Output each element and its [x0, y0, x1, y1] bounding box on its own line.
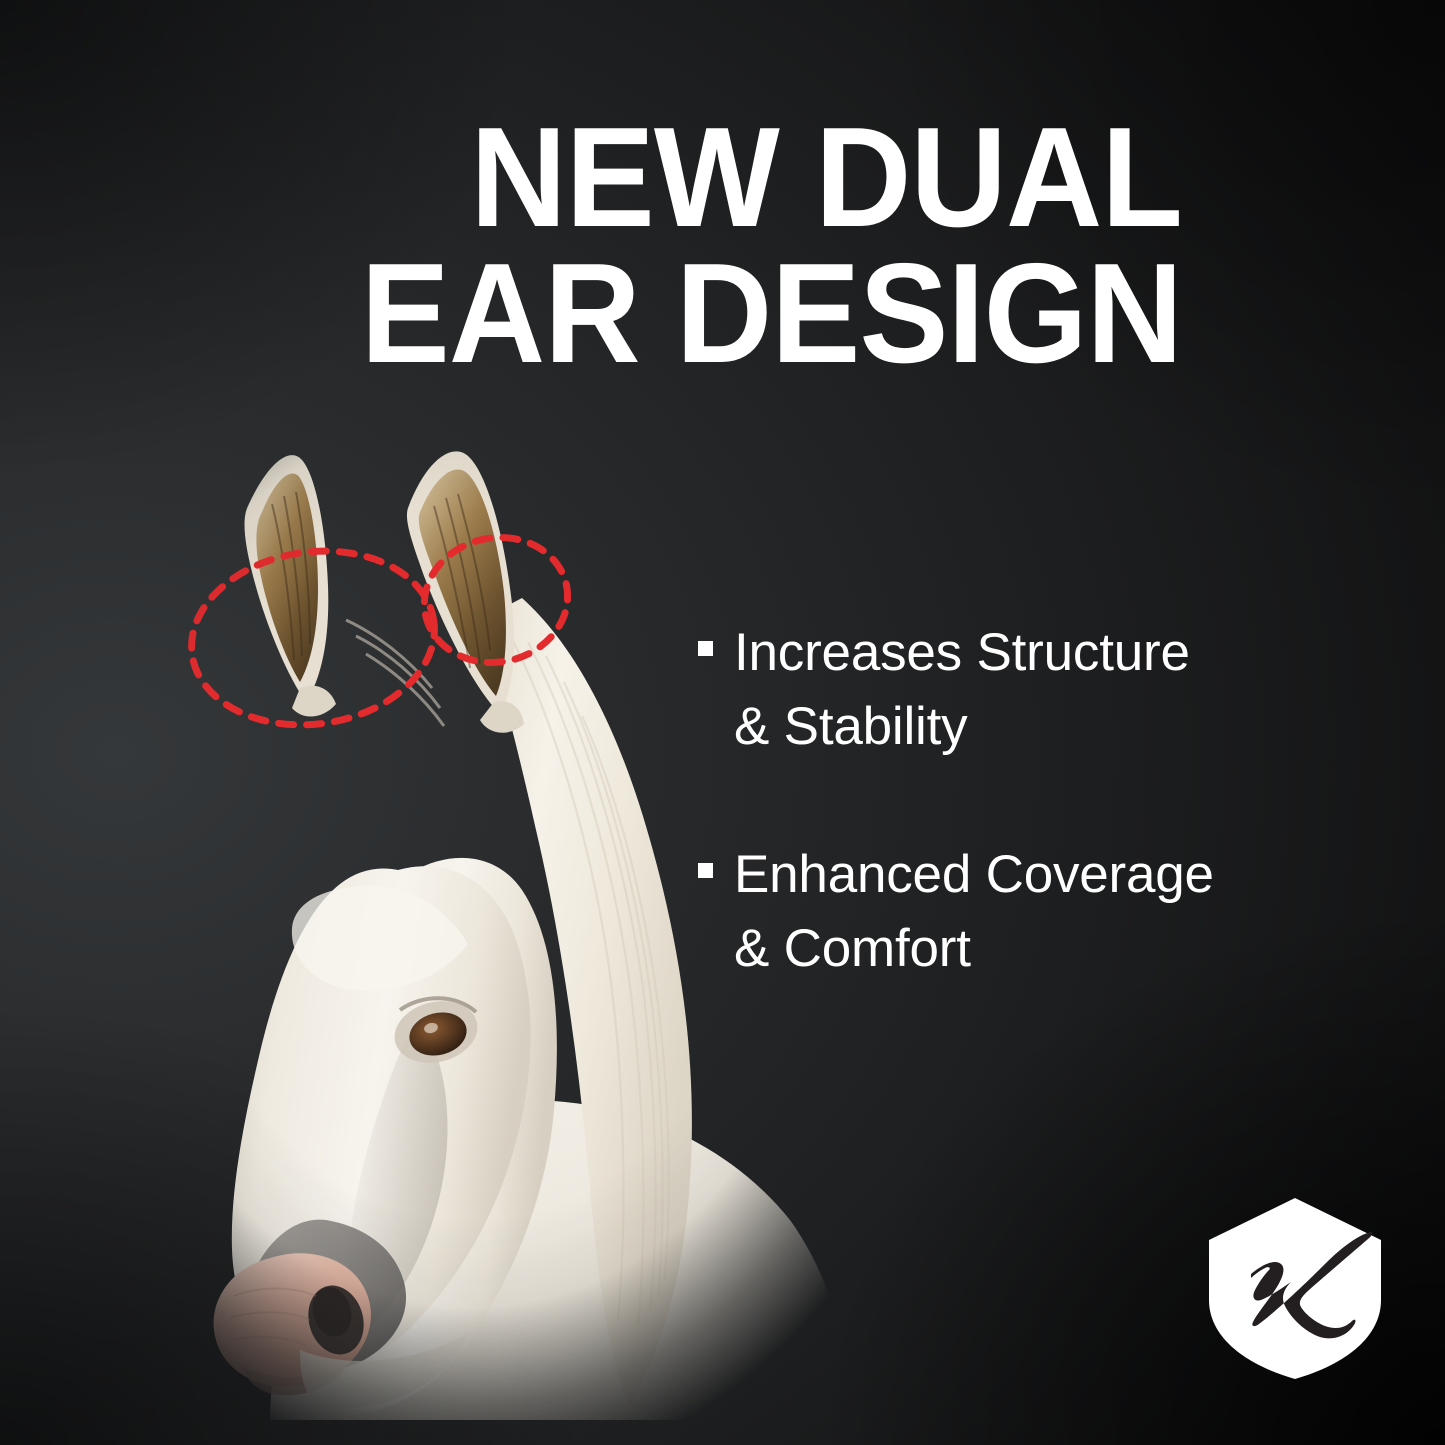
- horse-ear-left: [245, 455, 336, 716]
- square-bullet-icon: [698, 641, 713, 656]
- brand-shield-logo: [1205, 1196, 1385, 1381]
- list-item: Increases Structure & Stability: [698, 616, 1378, 764]
- feature-text: Increases Structure & Stability: [734, 616, 1190, 764]
- page-title: NEW DUAL EAR DESIGN: [184, 110, 1182, 382]
- forelock-wisps: [346, 620, 444, 726]
- list-item: Enhanced Coverage & Comfort: [698, 838, 1378, 986]
- marketing-graphic: NEW DUAL EAR DESIGN: [0, 0, 1445, 1445]
- shield-crest-icon: [1205, 1196, 1385, 1381]
- headline-line-2: EAR DESIGN: [184, 246, 1182, 382]
- square-bullet-icon: [698, 863, 713, 878]
- feature-list: Increases Structure & Stability Enhanced…: [698, 616, 1378, 1060]
- feature-text: Enhanced Coverage & Comfort: [734, 838, 1214, 986]
- shield-shape: [1209, 1198, 1381, 1379]
- headline-line-1: NEW DUAL: [184, 110, 1182, 246]
